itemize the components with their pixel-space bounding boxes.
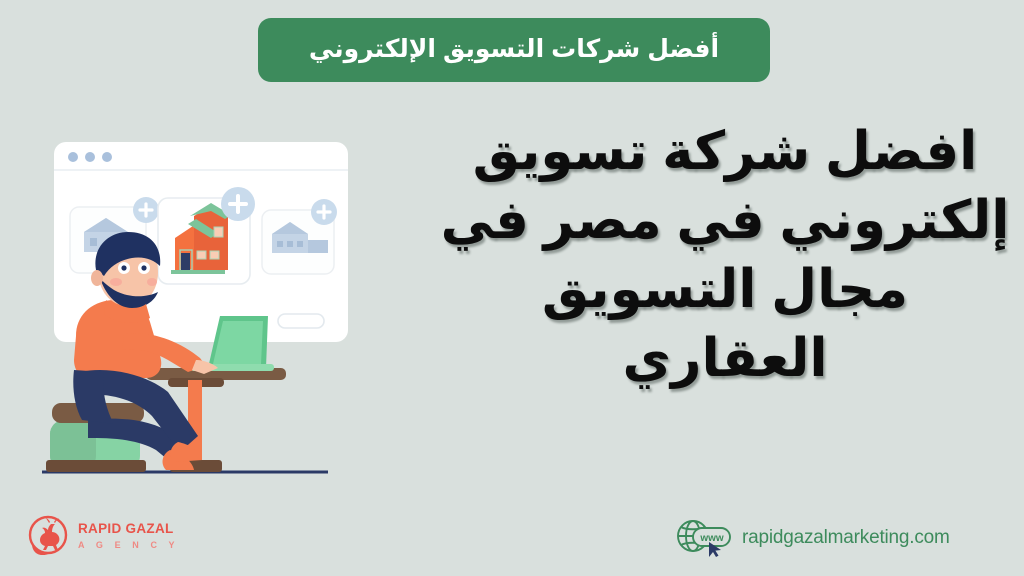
website-footer[interactable]: www rapidgazalmarketing.com bbox=[676, 518, 950, 558]
poster-canvas: أفضل شركات التسويق الإلكتروني افضل شركة … bbox=[0, 0, 1024, 576]
www-label: www bbox=[699, 533, 724, 544]
browser-dot-1 bbox=[68, 152, 78, 162]
website-url[interactable]: rapidgazalmarketing.com bbox=[742, 527, 950, 549]
brand-tagline: A G E N C Y bbox=[78, 541, 179, 550]
browser-button-pill bbox=[278, 314, 324, 328]
page-title: افضل شركة تسويق إلكتروني في مصر في مجال … bbox=[440, 118, 1010, 394]
brand-wordmark: RAPID GAZAL A G E N C Y bbox=[78, 522, 179, 550]
browser-dot-3 bbox=[102, 152, 112, 162]
browser-dot-2 bbox=[85, 152, 95, 162]
gazelle-glyph bbox=[40, 518, 59, 550]
hero-illustration bbox=[28, 120, 388, 500]
top-banner-label: أفضل شركات التسويق الإلكتروني bbox=[309, 36, 719, 64]
brand-logo: RAPID GAZAL A G E N C Y bbox=[26, 514, 179, 558]
globe-www-cursor-icon: www bbox=[676, 518, 732, 558]
gazelle-in-circle-icon bbox=[26, 514, 70, 558]
brand-name: RAPID GAZAL bbox=[78, 522, 179, 536]
top-banner: أفضل شركات التسويق الإلكتروني bbox=[258, 18, 770, 82]
